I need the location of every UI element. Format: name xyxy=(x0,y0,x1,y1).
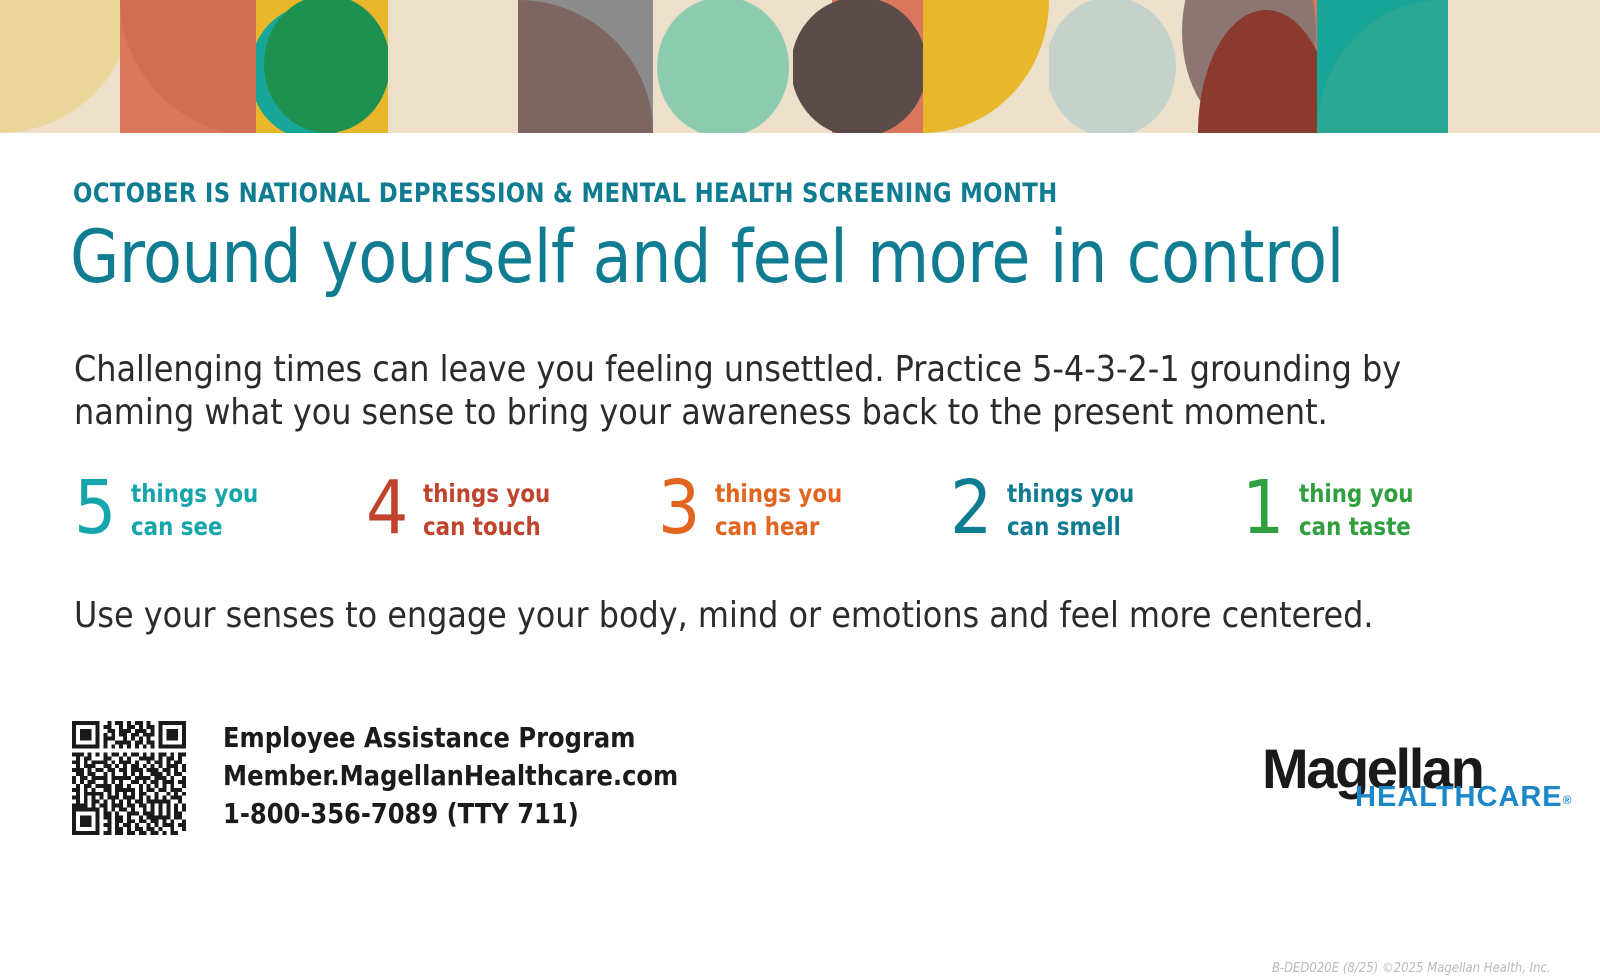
magellan-healthcare-logo: Magellan HEALTHCARE® xyxy=(1262,741,1510,811)
sand-quarter-circle-shape xyxy=(0,0,120,133)
legal-fine-print: B-DED020E (8/25) ©2025 Magellan Health, … xyxy=(1272,961,1551,976)
contact-line-phone[interactable]: 1-800-356-7089 (TTY 711) xyxy=(223,795,678,833)
banner-segment-dark-brown-circle xyxy=(793,0,923,133)
sense-number-2: 2 xyxy=(950,473,991,543)
sense-label-taste: thing you can taste xyxy=(1299,477,1414,543)
sense-label-hear: things you can hear xyxy=(715,477,842,543)
logo-subbrand-text: HEALTHCARE xyxy=(1355,781,1563,813)
banner-segment-sand-quarter-circle xyxy=(0,0,120,133)
green-circle-shape xyxy=(264,0,388,133)
brown-quarter-circle-shape xyxy=(518,0,653,133)
eyebrow-heading: OCTOBER IS NATIONAL DEPRESSION & MENTAL … xyxy=(73,178,1058,209)
sense-item-taste: 1 thing you can taste xyxy=(1242,473,1420,543)
sense-number-4: 4 xyxy=(366,473,407,543)
banner-segment-gold-quarter-circle xyxy=(923,0,1049,133)
sense-number-3: 3 xyxy=(658,473,699,543)
gold-quarter-circle-shape xyxy=(923,0,1049,133)
contact-line-program: Employee Assistance Program xyxy=(223,719,678,757)
banner-segment-gray-brown-quarter xyxy=(518,0,653,133)
banner-segment-mint-circle xyxy=(653,0,793,133)
page-title: Ground yourself and feel more in control xyxy=(70,215,1344,300)
intro-paragraph: Challenging times can leave you feeling … xyxy=(74,348,1492,434)
sense-item-smell: 2 things you can smell xyxy=(950,473,1141,543)
banner-segment-maroon-arch xyxy=(1182,0,1317,133)
poster-content: OCTOBER IS NATIONAL DEPRESSION & MENTAL … xyxy=(0,133,1600,900)
banner-segment-sand-gap xyxy=(388,0,518,133)
pale-gray-circle-shape xyxy=(1049,0,1176,133)
decorative-banner xyxy=(0,0,1600,133)
terracotta-quarter-circle-shape xyxy=(120,0,256,133)
sense-label-touch: things you can touch xyxy=(423,477,550,543)
sense-label-smell: things you can smell xyxy=(1007,477,1134,543)
sense-label-see: things you can see xyxy=(131,477,258,543)
contact-block: Employee Assistance Program Member.Magel… xyxy=(223,719,678,833)
logo-subbrand: HEALTHCARE® xyxy=(1355,783,1571,815)
banner-segment-pale-gray-circle xyxy=(1049,0,1182,133)
sense-number-1: 1 xyxy=(1242,473,1283,543)
banner-segment-right-sand xyxy=(1448,0,1600,133)
sense-item-see: 5 things you can see xyxy=(74,473,265,543)
sense-item-touch: 4 things you can touch xyxy=(366,473,557,543)
outro-paragraph: Use your senses to engage your body, min… xyxy=(74,595,1374,636)
contact-line-website[interactable]: Member.MagellanHealthcare.com xyxy=(223,757,678,795)
banner-segment-teal-leaf xyxy=(1317,0,1448,133)
grounding-senses-list: 5 things you can see 4 things you can to… xyxy=(74,473,1524,563)
dark-brown-circle-shape xyxy=(793,0,923,133)
qr-code-icon[interactable] xyxy=(72,721,186,835)
banner-segment-terracotta-block xyxy=(120,0,256,133)
sense-number-5: 5 xyxy=(74,473,115,543)
mint-circle-shape xyxy=(657,0,789,133)
registered-trademark-icon: ® xyxy=(1563,793,1572,807)
sense-item-hear: 3 things you can hear xyxy=(658,473,849,543)
banner-segment-gold-green-circle xyxy=(256,0,388,133)
